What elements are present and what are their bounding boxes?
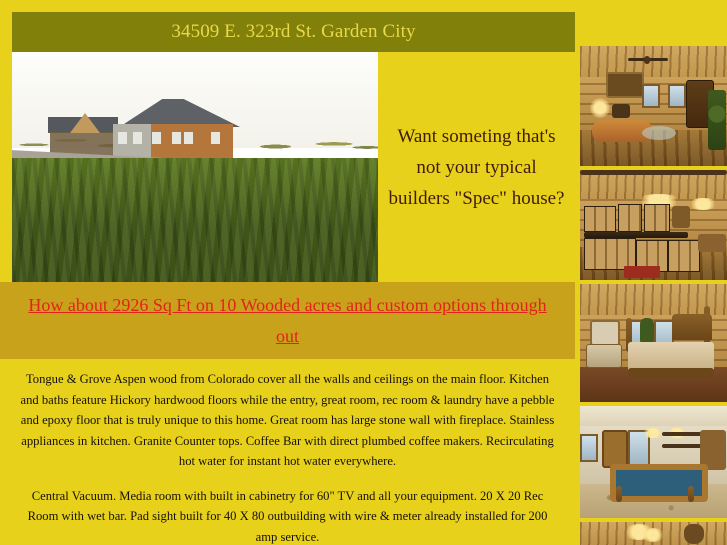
hero-pitch-text: Want someting that's not your typical bu… [378, 121, 575, 214]
hero-window [152, 132, 161, 144]
hero-window [184, 132, 193, 144]
thumbnail-bedroom[interactable] [580, 284, 727, 402]
body-paragraph-2: Central Vacuum. Media room with built in… [18, 486, 557, 545]
hero-pitch-block: Want someting that's not your typical bu… [378, 52, 575, 282]
thumbnail-image-chandelier-room [580, 522, 727, 545]
header-bar: 34509 E. 323rd St. Garden City [12, 12, 575, 52]
thumbnail-image-kitchen [580, 170, 727, 280]
thumbnail-image-great-room [580, 46, 727, 166]
hero-window [211, 132, 220, 144]
hero-photo[interactable] [12, 52, 378, 282]
thumbnail-rec-room[interactable] [580, 406, 727, 518]
thumbnail-image-rec-room [580, 406, 727, 518]
thumbnail-chandelier-room[interactable] [580, 522, 727, 545]
hero-window [133, 132, 142, 144]
listing-page: 34509 E. 323rd St. Garden City Want some… [0, 0, 727, 545]
body-copy: Tongue & Grove Aspen wood from Colorado … [0, 359, 575, 545]
thumbnail-rail: Click on Picture for larger view [575, 0, 727, 545]
thumbnail-kitchen[interactable] [580, 170, 727, 280]
headline-band: How about 2926 Sq Ft on 10 Wooded acres … [0, 282, 575, 359]
hero-window [118, 132, 127, 144]
headline-link[interactable]: How about 2926 Sq Ft on 10 Wooded acres … [0, 290, 575, 352]
hero-window [172, 132, 181, 144]
thumbnail-image-bedroom [580, 284, 727, 402]
body-paragraph-1: Tongue & Grove Aspen wood from Colorado … [18, 369, 557, 472]
page-title: 34509 E. 323rd St. Garden City [12, 12, 575, 52]
hero-lawn [12, 158, 378, 282]
thumbnail-great-room[interactable] [580, 46, 727, 166]
